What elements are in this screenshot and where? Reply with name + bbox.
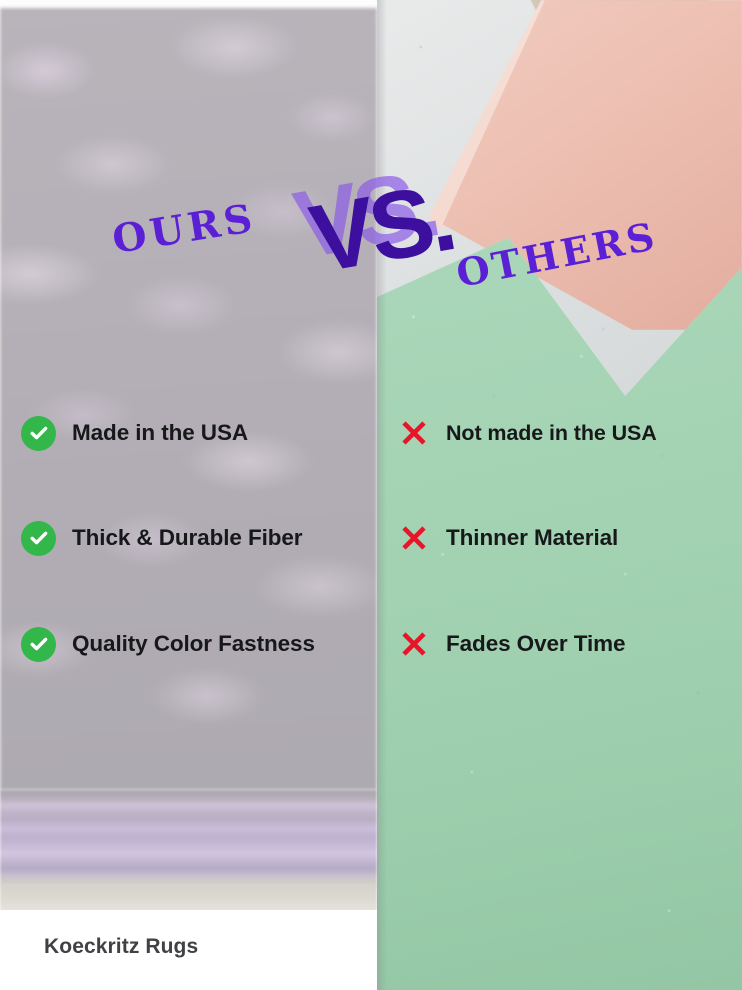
panel-ours [0,0,377,990]
panel-seam-shadow [377,0,387,990]
top-white-strip [0,0,377,8]
brand-name: Koeckritz Rugs [44,935,198,959]
panel-others [377,0,742,990]
gray-carpet-texture-image [0,8,377,790]
comparison-poster: OURS VS. VS. OTHERS Made in the USA [0,0,742,990]
lavender-pile-edge-bands [0,790,377,886]
floor-strip [0,884,377,912]
